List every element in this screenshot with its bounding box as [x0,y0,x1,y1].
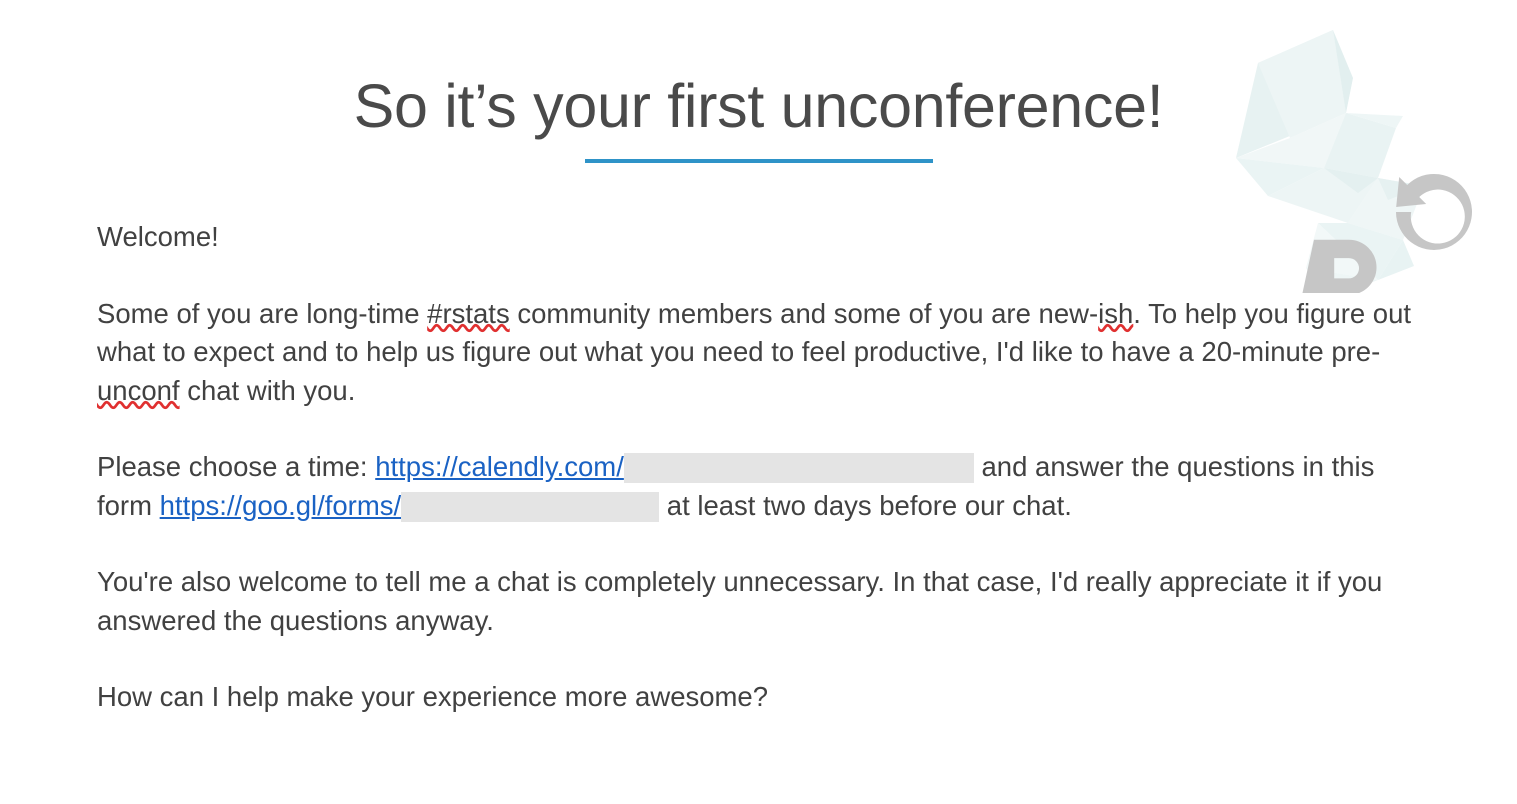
title-accent-rule [585,159,933,163]
links-text-c: at least two days before our chat. [659,490,1072,521]
redaction-block-forms [401,492,659,522]
links-text-a: Please choose a time: [97,451,375,482]
intro-text-d: chat with you. [180,375,356,406]
google-forms-link[interactable]: https://goo.gl/forms/ [160,490,402,521]
title-block: So it’s your first unconference! [0,74,1517,163]
closing-question-text: How can I help make your experience more… [97,681,768,712]
paragraph-intro: Some of you are long-time #rstats commun… [97,295,1427,411]
welcome-text: Welcome! [97,221,219,252]
misspelled-unconf: unconf [97,375,180,406]
optional-chat-text: You're also welcome to tell me a chat is… [97,566,1382,636]
paragraph-welcome: Welcome! [97,218,1427,257]
intro-text-a: Some of you are long-time [97,298,427,329]
paragraph-links: Please choose a time: https://calendly.c… [97,448,1427,525]
redaction-block-calendly [624,453,974,483]
paragraph-closing-question: How can I help make your experience more… [97,678,1427,717]
slide-body: Welcome! Some of you are long-time #rsta… [97,218,1427,717]
calendly-link[interactable]: https://calendly.com/ [375,451,624,482]
intro-text-b: community members and some of you are ne… [510,298,1098,329]
misspelled-rstats: #rstats [427,298,510,329]
paragraph-optional-chat: You're also welcome to tell me a chat is… [97,563,1427,640]
page-title: So it’s your first unconference! [0,74,1517,138]
misspelled-ish: ish [1098,298,1133,329]
